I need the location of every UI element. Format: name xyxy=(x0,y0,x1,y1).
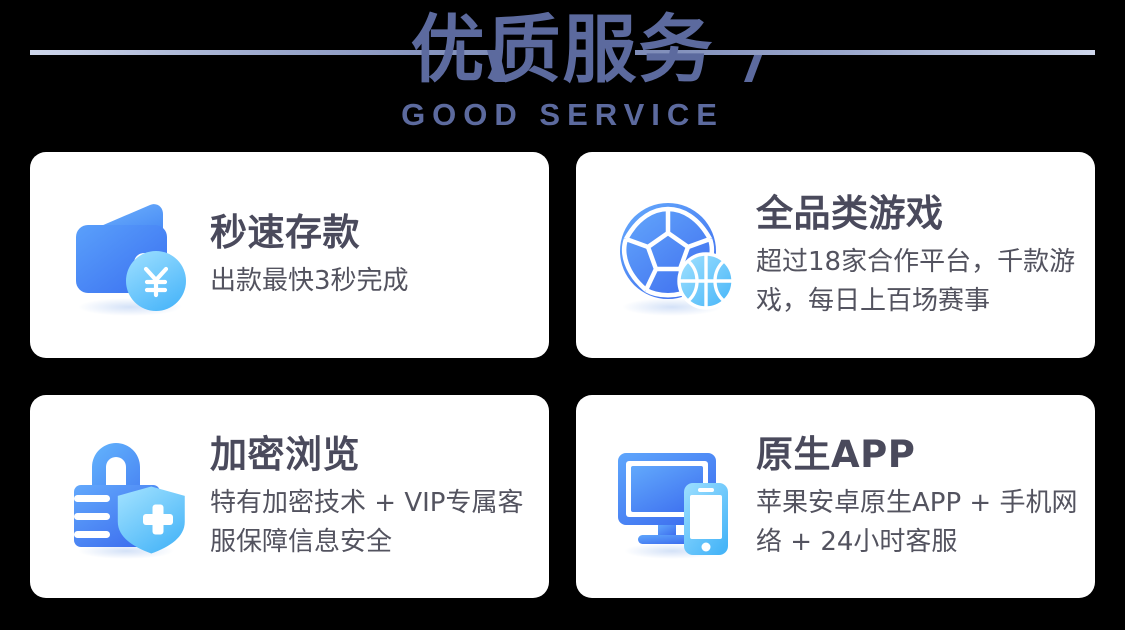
feature-card-text: 加密浏览 特有加密技术 + VIP专属客服保障信息安全 xyxy=(210,431,549,562)
monitor-phone-icon xyxy=(610,431,742,563)
feature-card-title: 秒速存款 xyxy=(210,209,549,257)
feature-card-desc: 苹果安卓原生APP + 手机网络 + 24小时客服 xyxy=(756,484,1095,562)
feature-card-title: 加密浏览 xyxy=(210,431,549,479)
feature-card-grid: 秒速存款 出款最快3秒完成 xyxy=(30,152,1095,598)
feature-card-encryption[interactable]: 加密浏览 特有加密技术 + VIP专属客服保障信息安全 xyxy=(30,395,549,598)
feature-card-text: 秒速存款 出款最快3秒完成 xyxy=(210,209,549,301)
feature-card-desc: 出款最快3秒完成 xyxy=(210,262,549,301)
page-title: 优质服务 xyxy=(0,8,1125,92)
feature-card-title: 全品类游戏 xyxy=(756,190,1095,238)
feature-card-text: 原生APP 苹果安卓原生APP + 手机网络 + 24小时客服 xyxy=(756,431,1095,562)
feature-card-deposit[interactable]: 秒速存款 出款最快3秒完成 xyxy=(30,152,549,358)
feature-card-desc: 特有加密技术 + VIP专属客服保障信息安全 xyxy=(210,484,549,562)
wallet-yen-icon xyxy=(64,189,196,321)
feature-card-desc: 超过18家合作平台，千款游戏，每日上百场赛事 xyxy=(756,243,1095,321)
soccer-basketball-icon xyxy=(610,189,742,321)
lock-shield-icon xyxy=(64,431,196,563)
feature-card-text: 全品类游戏 超过18家合作平台，千款游戏，每日上百场赛事 xyxy=(756,190,1095,321)
page-subtitle: GOOD SERVICE xyxy=(0,97,1125,133)
feature-card-native-app[interactable]: 原生APP 苹果安卓原生APP + 手机网络 + 24小时客服 xyxy=(576,395,1095,598)
feature-card-games[interactable]: 全品类游戏 超过18家合作平台，千款游戏，每日上百场赛事 xyxy=(576,152,1095,358)
page-header: 优质服务 GOOD SERVICE xyxy=(0,0,1125,150)
feature-card-title: 原生APP xyxy=(756,431,1095,479)
